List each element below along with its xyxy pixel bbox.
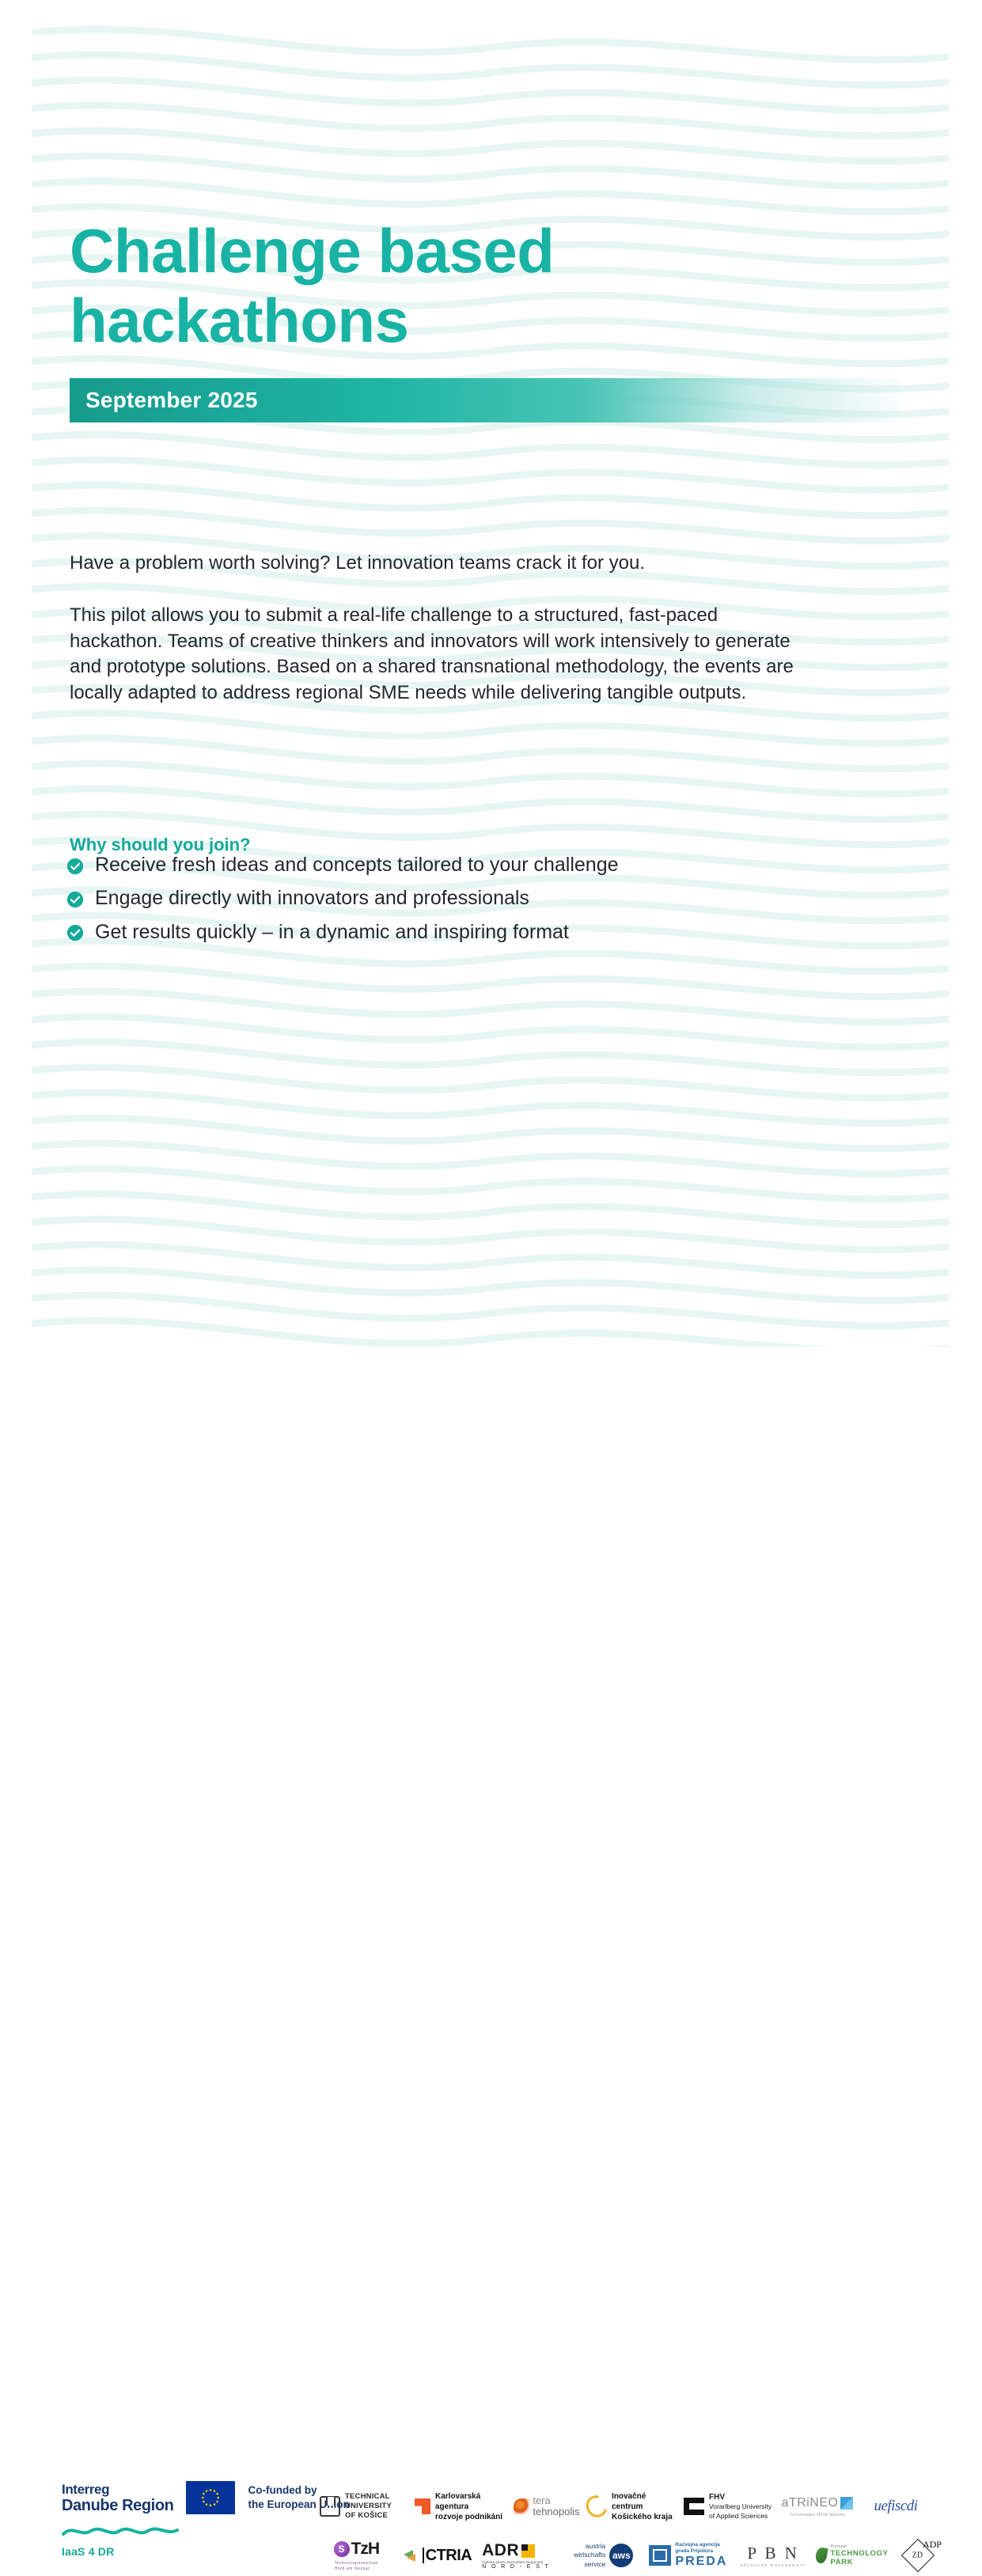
uefiscdi-wordmark: uefiscdi [874,2498,917,2515]
partner-logo-karlovarska: Karlovarská agentura rozvoje podnikání [411,2488,510,2525]
partner-logo-inovacne-centrum: Inovačné centrum Košického kraja [583,2488,678,2525]
karlovarska-mark-icon [415,2498,430,2514]
check-circle-icon [66,857,84,874]
atrineo-wordmark: aTRiNEO [782,2496,839,2510]
partner-row-1: TECHNICAL UNIVERSITY OF KOŠICE Karlovars… [317,2486,942,2527]
programme-logos: Interreg Danube Region [62,2481,350,2558]
adr-wordmark: ADR [482,2541,519,2560]
partner-logo-ctria: CTRIA [396,2537,479,2574]
partner-logo-pomurje: Pomurje TECHNOLOGY PARK [813,2537,894,2574]
ctria-arrow-icon [404,2548,421,2563]
check-circle-icon [66,923,84,941]
aws-badge-icon: aws [609,2544,633,2567]
partner-logo-atrineo: aTRiNEO Technologies Minds Markets [777,2488,858,2525]
tuke-line-1: TECHNICAL UNIVERSITY [345,2492,392,2510]
adp-inner-mark: ZD [912,2551,923,2560]
benefit-text: Engage directly with innovators and prof… [95,886,529,911]
page-title-line-1: Challenge based [70,217,782,286]
tzh-circle-icon: S [334,2541,350,2557]
preda-arrow-icon [649,2545,671,2566]
wave-icon [62,2529,179,2543]
fhv-line-2: Vorarlberg University [709,2502,772,2510]
icke-line-2: Košického kraja [612,2513,673,2521]
list-item: Receive fresh ideas and concepts tailore… [66,853,826,877]
pomurje-leaf-icon [815,2547,828,2564]
tzh-line-3: Horb am Neckar [335,2567,370,2571]
date-label: September 2025 [70,388,258,413]
footer: Interreg Danube Region [0,1222,982,1388]
interreg-wordmark-bottom: Danube Region [62,2498,173,2513]
partner-logos: TECHNICAL UNIVERSITY OF KOŠICE Karlovars… [317,2486,942,2576]
tuke-line-2: OF KOŠICE [345,2511,388,2520]
adr-square-icon [521,2544,535,2558]
aws-line-3: service [584,2560,605,2568]
karlovarska-line-1: Karlovarská agentura [435,2492,480,2511]
partner-logo-preda: Razvojna agencija grada Prijedora PREDA [643,2537,734,2574]
benefit-text: Receive fresh ideas and concepts tailore… [95,853,619,877]
partner-logo-adp: ZD ADP [894,2537,942,2574]
icke-swirl-icon [582,2491,612,2521]
intro-lead-paragraph: Have a problem worth solving? Let innova… [70,551,806,577]
project-logo: IaaS 4 DR [62,2525,350,2558]
fhv-line-3: of Applied Sciences [709,2512,768,2520]
check-circle-icon [66,890,84,907]
adr-line-3: N O R D - E S T [482,2564,550,2570]
partner-logo-tuke: TECHNICAL UNIVERSITY OF KOŠICE [317,2488,411,2525]
tera-line-2: tehnopolis [533,2506,579,2517]
intro-body-paragraph: This pilot allows you to submit a real-l… [70,603,809,707]
partner-logo-tzh: S TzH Technologiezentrum Horb am Neckar [317,2537,396,2574]
partner-row-2: S TzH Technologiezentrum Horb am Neckar … [317,2535,942,2576]
preda-line-1: Razvojna agencija [675,2542,719,2548]
poster-page: Challenge based hackathons September 202… [0,0,982,1388]
pomurje-wordmark: TECHNOLOGY PARK [830,2549,891,2567]
preda-wordmark: PREDA [675,2555,727,2569]
partner-logo-uefiscdi: uefiscdi [858,2488,934,2525]
aws-line-1: austria [586,2542,606,2550]
benefit-text: Get results quickly – in a dynamic and i… [95,920,569,945]
interreg-logo: Interreg Danube Region [62,2483,173,2513]
icke-line-1: Inovačné centrum [612,2492,646,2511]
tuke-mark-icon [320,2496,340,2517]
list-item: Get results quickly – in a dynamic and i… [66,920,826,945]
pbn-wordmark: P B N [747,2544,799,2563]
ctria-wordmark: CTRIA [426,2547,472,2565]
pbn-tagline: advanced management [741,2563,806,2568]
tzh-line-2: Technologiezentrum [335,2561,379,2566]
fhv-line-1: FHV [709,2493,725,2502]
preda-line-2: grada Prijedora [675,2548,713,2554]
tzh-wordmark: TzH [351,2540,380,2559]
aws-line-2: wirtschafts [574,2551,605,2559]
partner-logo-aws: austria wirtschafts service aws [563,2537,643,2574]
eu-flag-icon [186,2481,235,2514]
page-title: Challenge based hackathons [70,217,782,355]
page-title-line-2: hackathons [70,286,782,355]
partner-logo-adr-nord-est: ADR Agentia pentru Dezvoltare Regionala … [479,2537,563,2574]
project-name: IaaS 4 DR [62,2545,350,2558]
interreg-wordmark-top: Interreg [62,2483,173,2496]
adp-wordmark: ADP [923,2539,942,2551]
partner-logo-tera-tehnopolis: tera tehnopolis [510,2488,583,2525]
benefits-list: Receive fresh ideas and concepts tailore… [66,853,826,953]
ctria-divider [423,2548,424,2563]
karlovarska-line-2: rozvoje podnikání [435,2513,502,2521]
partner-logo-pbn: P B N advanced management [734,2537,813,2574]
atrineo-square-icon [840,2497,853,2510]
partner-logo-fhv: FHV Vorarlberg University of Applied Sci… [678,2488,777,2525]
atrineo-tagline: Technologies Minds Markets [790,2513,846,2517]
tera-flower-icon [514,2498,529,2514]
fhv-mark-icon [684,2498,704,2515]
list-item: Engage directly with innovators and prof… [66,886,826,911]
date-banner: September 2025 [70,378,900,422]
